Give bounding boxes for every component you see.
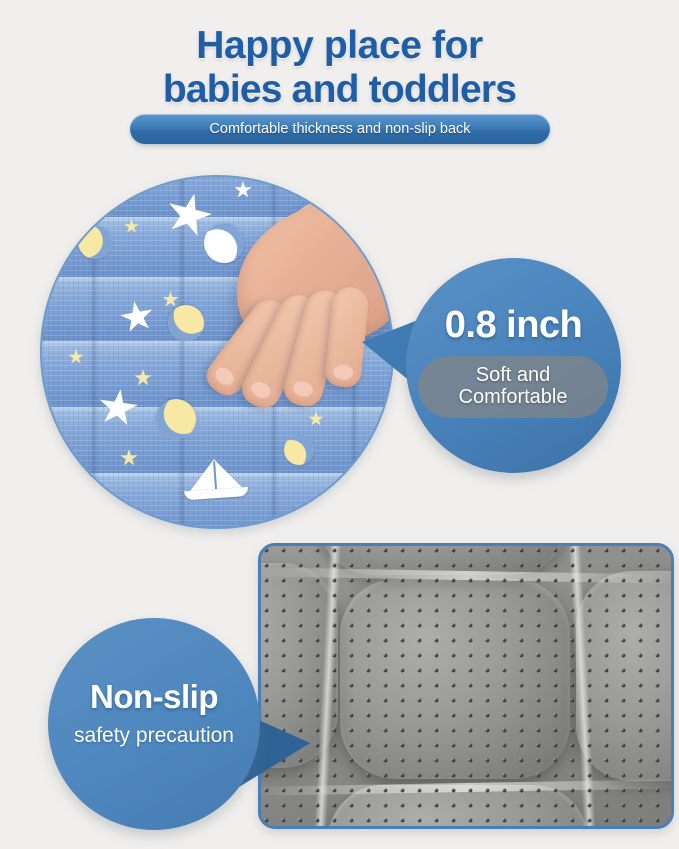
marketing-image: Happy place for babies and toddlers Comf…: [0, 0, 679, 849]
nonslip-subtext: safety precaution: [48, 724, 260, 748]
thickness-value: 0.8 inch: [406, 304, 621, 347]
product-photo-nonslip: [258, 543, 674, 829]
blue-quilted-fabric: [40, 175, 394, 529]
page-title: Happy place for babies and toddlers: [0, 24, 679, 112]
comfort-badge-line-1: Soft and: [476, 365, 551, 387]
title-line-1: Happy place for: [196, 24, 483, 67]
comfort-badge-line-2: Comfortable: [459, 387, 568, 409]
subtitle-text: Comfortable thickness and non-slip back: [209, 121, 470, 137]
subtitle-banner: Comfortable thickness and non-slip back: [130, 114, 550, 144]
callout-thickness: 0.8 inch Soft and Comfortable: [406, 258, 621, 473]
nonslip-title: Non-slip: [48, 678, 260, 716]
title-line-2: babies and toddlers: [0, 68, 679, 112]
product-photo-thickness: [40, 175, 394, 529]
dot-highlights: [258, 543, 674, 829]
callout-nonslip: Non-slip safety precaution: [48, 618, 260, 830]
gray-quilted-fabric: [258, 543, 674, 829]
comfort-badge: Soft and Comfortable: [418, 356, 608, 418]
